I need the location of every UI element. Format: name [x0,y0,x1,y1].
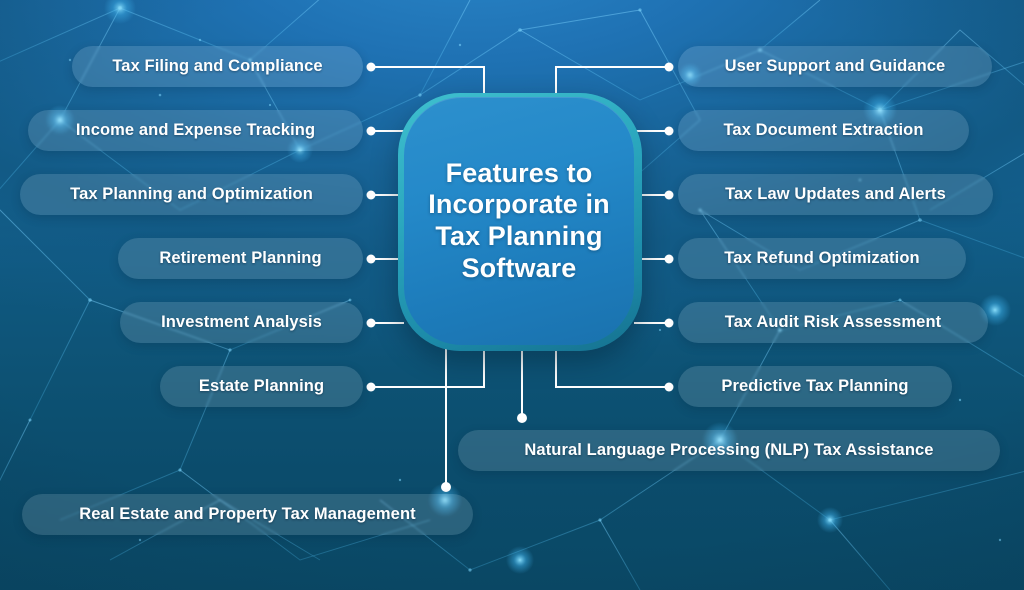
center-node[interactable]: Features to Incorporate in Tax Planning … [404,97,634,345]
feature-pill-label: Income and Expense Tracking [76,121,315,140]
feature-pill-left-5[interactable]: Investment Analysis [120,302,363,343]
feature-pill-left-6[interactable]: Estate Planning [160,366,363,407]
feature-pill-label: Tax Law Updates and Alerts [725,185,946,204]
feature-pill-bottom-2[interactable]: Real Estate and Property Tax Management [22,494,473,535]
feature-pill-label: Estate Planning [199,377,324,396]
feature-pill-label: Tax Audit Risk Assessment [725,313,941,332]
feature-pill-left-3[interactable]: Tax Planning and Optimization [20,174,363,215]
feature-pill-left-4[interactable]: Retirement Planning [118,238,363,279]
feature-pill-label: Investment Analysis [161,313,322,332]
feature-pill-right-1[interactable]: User Support and Guidance [678,46,992,87]
feature-pill-label: Predictive Tax Planning [721,377,908,396]
feature-pill-right-6[interactable]: Predictive Tax Planning [678,366,952,407]
infographic-canvas: Features to Incorporate in Tax Planning … [0,0,1024,590]
center-node-title: Features to Incorporate in Tax Planning … [416,158,621,284]
feature-pill-right-4[interactable]: Tax Refund Optimization [678,238,966,279]
feature-pill-label: Tax Refund Optimization [724,249,919,268]
feature-pill-label: Tax Filing and Compliance [112,57,322,76]
feature-pill-left-1[interactable]: Tax Filing and Compliance [72,46,363,87]
feature-pill-right-3[interactable]: Tax Law Updates and Alerts [678,174,993,215]
feature-pill-left-2[interactable]: Income and Expense Tracking [28,110,363,151]
feature-pill-right-2[interactable]: Tax Document Extraction [678,110,969,151]
feature-pill-label: Retirement Planning [159,249,321,268]
feature-pill-label: Natural Language Processing (NLP) Tax As… [524,441,933,460]
feature-pill-label: Real Estate and Property Tax Management [79,505,415,524]
feature-pill-label: User Support and Guidance [725,57,946,76]
feature-pill-label: Tax Document Extraction [723,121,923,140]
feature-pill-label: Tax Planning and Optimization [70,185,313,204]
feature-pill-right-5[interactable]: Tax Audit Risk Assessment [678,302,988,343]
feature-pill-bottom-1[interactable]: Natural Language Processing (NLP) Tax As… [458,430,1000,471]
